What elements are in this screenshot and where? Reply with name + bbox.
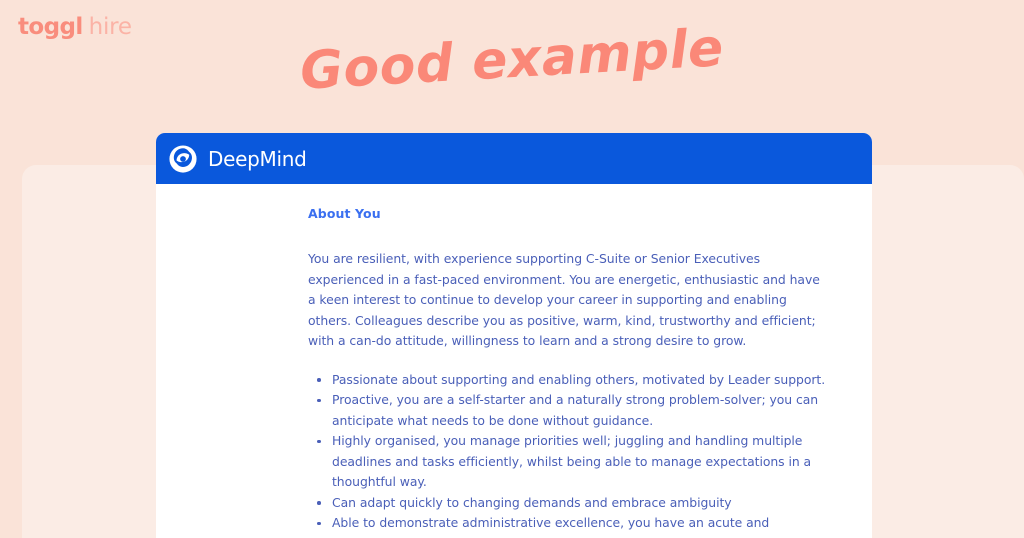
document-header: DeepMind xyxy=(156,133,872,184)
document-body: About You You are resilient, with experi… xyxy=(156,184,872,538)
list-item: Passionate about supporting and enabling… xyxy=(308,370,826,391)
list-item: Can adapt quickly to changing demands an… xyxy=(308,493,826,514)
list-item: Highly organised, you manage priorities … xyxy=(308,431,826,493)
requirements-list: Passionate about supporting and enabling… xyxy=(308,370,826,538)
job-description-card: DeepMind About You You are resilient, wi… xyxy=(156,133,872,538)
list-item: Able to demonstrate administrative excel… xyxy=(308,513,826,538)
page-title: Good example xyxy=(0,34,1024,86)
section-paragraph: You are resilient, with experience suppo… xyxy=(308,249,826,352)
list-item: Proactive, you are a self-starter and a … xyxy=(308,390,826,431)
company-name: DeepMind xyxy=(208,147,307,171)
toggl-hire-logo[interactable]: toggl hire xyxy=(18,16,132,39)
deepmind-spiral-icon xyxy=(169,145,197,173)
brand-name-secondary: hire xyxy=(89,16,132,39)
page-title-text: Good example xyxy=(299,22,725,98)
brand-name-primary: toggl xyxy=(18,16,83,39)
section-heading: About You xyxy=(308,206,826,221)
